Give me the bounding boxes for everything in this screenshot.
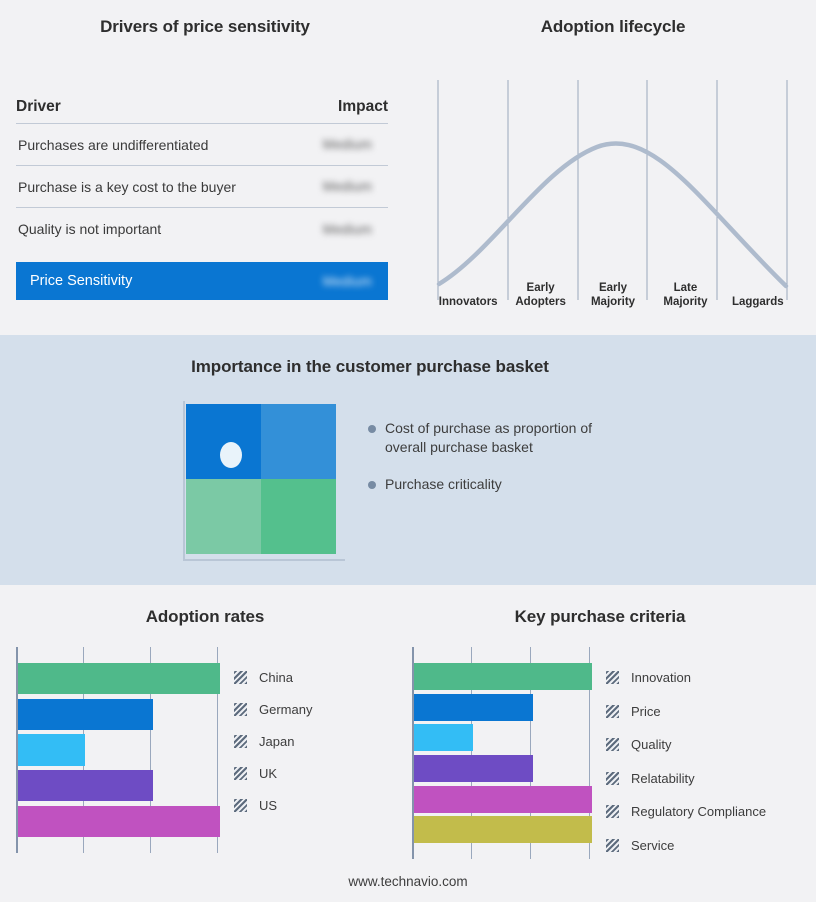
bar[interactable] (414, 663, 592, 690)
summary-label: Price Sensitivity (30, 273, 132, 289)
bar-slot (18, 732, 220, 768)
hatch-swatch-icon (606, 705, 619, 718)
legend-item: Cost of purchase as proportion of overal… (368, 419, 668, 457)
bar-slot (414, 814, 592, 845)
impact-value: Medium (323, 179, 388, 194)
key-purchase-criteria-panel: Key purchase criteria InnovationPriceQua… (400, 585, 816, 902)
legend-label: Innovation (631, 670, 691, 685)
bar[interactable] (414, 694, 533, 721)
criteria-bars (414, 661, 592, 845)
legend-label: Relatability (631, 771, 695, 786)
driver-name: Quality is not important (16, 221, 161, 237)
bar[interactable] (18, 663, 220, 694)
quadrant-top-left[interactable] (186, 404, 261, 479)
legend-label: Quality (631, 737, 671, 752)
adoption-rates-title: Adoption rates (0, 607, 410, 627)
hatch-swatch-icon (234, 735, 247, 748)
quadrant-grid (186, 404, 336, 554)
hatch-swatch-icon (606, 805, 619, 818)
drivers-panel: Drivers of price sensitivity Driver Impa… (0, 0, 410, 335)
hatch-swatch-icon (234, 703, 247, 716)
adoption-lifecycle-panel: Adoption lifecycle Innovators Early A (410, 0, 816, 335)
stage-label-line2: Adopters (515, 295, 565, 309)
hatch-swatch-icon (606, 772, 619, 785)
bullet-icon (368, 425, 376, 433)
quadrant-y-axis (183, 401, 185, 559)
legend-label: Regulatory Compliance (631, 804, 766, 819)
quadrant-bottom-right[interactable] (261, 479, 336, 554)
adoption-rates-chart: ChinaGermanyJapanUKUS (16, 647, 406, 867)
hatch-swatch-icon (234, 671, 247, 684)
legend-label: China (259, 670, 293, 685)
key-purchase-criteria-title: Key purchase criteria (400, 607, 800, 627)
column-header-driver: Driver (16, 98, 61, 116)
impact-value: Medium (323, 137, 388, 152)
footer-url: www.technavio.com (0, 874, 816, 889)
legend-item[interactable]: Regulatory Compliance (606, 795, 812, 829)
legend-item[interactable]: Innovation (606, 661, 812, 695)
stage-label-line1: Laggards (732, 295, 784, 309)
stage-label-line1: Innovators (439, 295, 498, 309)
legend-label: Price (631, 704, 661, 719)
bullet-icon (368, 481, 376, 489)
key-purchase-criteria-chart: InnovationPriceQualityRelatabilityRegula… (412, 647, 812, 877)
adoption-lifecycle-chart: Innovators Early Adopters Early Majority… (432, 72, 794, 312)
stage-label-innovators: Innovators (432, 256, 504, 312)
bar-slot (414, 661, 592, 692)
legend-item[interactable]: Price (606, 695, 812, 729)
bar[interactable] (18, 806, 220, 837)
bar[interactable] (414, 786, 592, 813)
table-row[interactable]: Purchases are undifferentiated Medium (16, 124, 388, 166)
hatch-swatch-icon (606, 738, 619, 751)
legend-label: US (259, 798, 277, 813)
legend-item[interactable]: Japan (234, 725, 406, 757)
legend-item[interactable]: China (234, 661, 406, 693)
legend-label: Cost of purchase as proportion of overal… (385, 419, 635, 457)
legend-rows: InnovationPriceQualityRelatabilityRegula… (606, 661, 812, 862)
bar[interactable] (414, 724, 473, 751)
bar-slot (414, 753, 592, 784)
stage-label-late-majority: Late Majority (649, 256, 721, 312)
legend-label: Service (631, 838, 674, 853)
purchase-basket-title: Importance in the customer purchase bask… (0, 357, 740, 377)
drivers-title: Drivers of price sensitivity (0, 17, 410, 37)
summary-impact-value: Medium (323, 274, 374, 289)
driver-name: Purchase is a key cost to the buyer (16, 179, 236, 195)
table-header-row: Driver Impact (16, 90, 388, 124)
legend-item: Purchase criticality (368, 475, 668, 494)
stage-label-early-adopters: Early Adopters (504, 256, 576, 312)
lifecycle-stage-labels: Innovators Early Adopters Early Majority… (432, 256, 794, 312)
bar-slot (414, 692, 592, 723)
hatch-swatch-icon (234, 767, 247, 780)
bar[interactable] (414, 755, 533, 782)
table-row[interactable]: Quality is not important Medium (16, 208, 388, 250)
bar[interactable] (18, 734, 85, 765)
legend-rows: ChinaGermanyJapanUKUS (234, 661, 406, 821)
stage-label-line1: Early (599, 281, 627, 295)
legend-item[interactable]: Service (606, 829, 812, 863)
purchase-basket-panel: Importance in the customer purchase bask… (0, 335, 816, 585)
table-row[interactable]: Purchase is a key cost to the buyer Medi… (16, 166, 388, 208)
impact-value: Medium (323, 222, 388, 237)
bar[interactable] (18, 699, 153, 730)
hatch-swatch-icon (234, 799, 247, 812)
stage-label-laggards: Laggards (722, 256, 794, 312)
legend-item[interactable]: Relatability (606, 762, 812, 796)
stage-label-line2: Majority (663, 295, 707, 309)
adoption-rates-panel: Adoption rates ChinaGermanyJapanUKUS (0, 585, 410, 902)
stage-label-early-majority: Early Majority (577, 256, 649, 312)
purchase-basket-legend: Cost of purchase as proportion of overal… (368, 419, 668, 512)
legend-item[interactable]: Quality (606, 728, 812, 762)
quadrant-x-axis (183, 559, 345, 561)
bar[interactable] (18, 770, 153, 801)
legend-label: UK (259, 766, 277, 781)
stage-label-line2: Majority (591, 295, 635, 309)
stage-label-line1: Late (674, 281, 698, 295)
column-header-impact: Impact (338, 98, 388, 116)
legend-label: Purchase criticality (385, 475, 502, 494)
bar-slot (18, 768, 220, 804)
quadrant-top-right[interactable] (261, 404, 336, 479)
adoption-lifecycle-title: Adoption lifecycle (410, 17, 816, 37)
legend-item[interactable]: UK (234, 757, 406, 789)
adoption-bars (18, 661, 220, 839)
adoption-rates-legend: ChinaGermanyJapanUKUS (234, 647, 406, 867)
drivers-table: Driver Impact Purchases are undifferenti… (16, 90, 388, 300)
key-purchase-criteria-plot (412, 647, 592, 859)
adoption-rates-plot (16, 647, 220, 853)
legend-label: Germany (259, 702, 312, 717)
bar-slot (18, 697, 220, 733)
hatch-swatch-icon (606, 671, 619, 684)
bar[interactable] (414, 816, 592, 843)
driver-name: Purchases are undifferentiated (16, 137, 208, 153)
legend-item[interactable]: US (234, 789, 406, 821)
stage-label-line1: Early (527, 281, 555, 295)
bar-slot (414, 722, 592, 753)
bar-slot (414, 784, 592, 815)
bar-slot (18, 661, 220, 697)
quadrant-chart (180, 401, 345, 566)
bar-slot (18, 803, 220, 839)
hatch-swatch-icon (606, 839, 619, 852)
legend-item[interactable]: Germany (234, 693, 406, 725)
legend-label: Japan (259, 734, 294, 749)
key-purchase-criteria-legend: InnovationPriceQualityRelatabilityRegula… (606, 647, 812, 877)
price-sensitivity-summary-row[interactable]: Price Sensitivity Medium (16, 262, 388, 300)
quadrant-bottom-left[interactable] (186, 479, 261, 554)
position-marker-icon (220, 442, 242, 468)
